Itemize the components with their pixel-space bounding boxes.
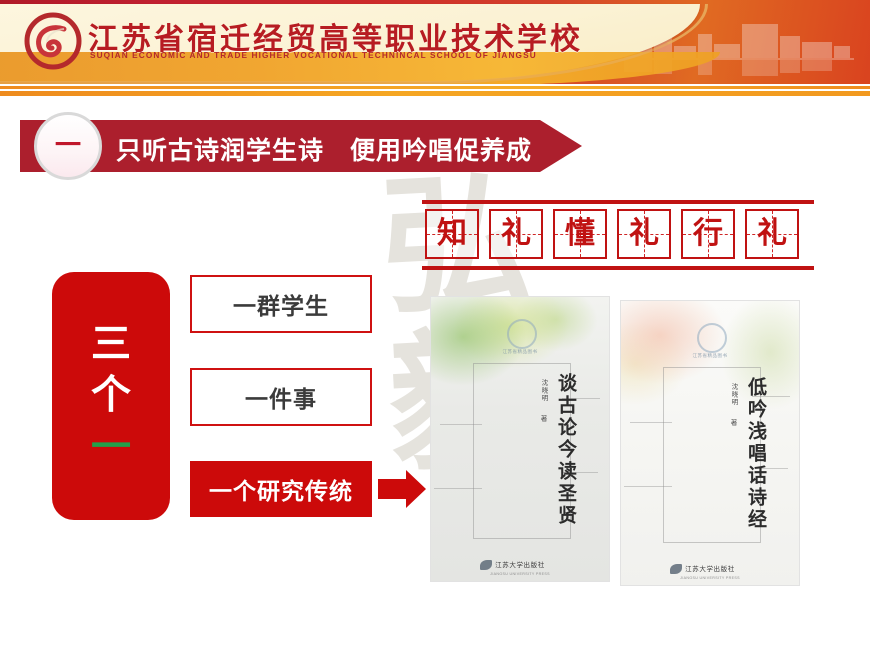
- book-spine-edge: [430, 357, 431, 582]
- banner-arrow-icon: [540, 120, 582, 172]
- grid-cell-char: 知: [437, 219, 467, 249]
- pill-char-1: 三: [91, 319, 131, 370]
- pill-char-3: 一: [91, 422, 131, 473]
- page-header: 江苏省宿迁经贸高等职业技术学校 SUQIAN ECONOMIC AND TRAD…: [0, 0, 870, 84]
- book-title: 谈古论今读圣贤: [556, 373, 575, 527]
- grid-cell-char: 礼: [501, 219, 531, 249]
- book-publisher-en: JIANGSU UNIVERSITY PRESS: [621, 576, 799, 580]
- grid-cell-char: 懂: [565, 219, 595, 249]
- grid-cell-char: 礼: [629, 219, 659, 249]
- grid-cell: 懂: [553, 209, 607, 259]
- book-publisher: 江苏大学出版社: [621, 563, 799, 573]
- three-ones-pill: 三 个 一: [52, 272, 170, 520]
- section-title-text: 只听古诗润学生诗 便用吟唱促养成: [116, 131, 532, 167]
- right-arrow-icon: [378, 470, 426, 508]
- pill-char-2: 个: [91, 370, 131, 421]
- book-author: 沈晓明: [730, 383, 737, 406]
- header-divider: [0, 86, 870, 98]
- book-cover: 江苏省精品图书 谈古论今读圣贤 沈晓明 著 江苏大学出版社 JIANGSU UN…: [430, 296, 610, 582]
- grid-rule-bottom: [422, 266, 814, 270]
- book-author-suffix: 著: [727, 419, 737, 426]
- divider-bar-top: [0, 86, 870, 89]
- section-number-label: 一: [55, 133, 81, 159]
- grid-cell: 礼: [617, 209, 671, 259]
- grid-cell: 礼: [489, 209, 543, 259]
- grid-cells: 知 礼 懂 礼 行 礼: [425, 209, 799, 259]
- book-seal-label: 江苏省精品图书: [494, 349, 546, 355]
- concept-box-tradition: 一个研究传统: [190, 461, 372, 517]
- book-publisher: 江苏大学出版社: [431, 559, 609, 569]
- concept-box-event: 一件事: [190, 368, 372, 426]
- grid-cell: 知: [425, 209, 479, 259]
- book-publisher-en: JIANGSU UNIVERSITY PRESS: [431, 572, 609, 576]
- book-seal-icon: [507, 319, 537, 349]
- book-seal-icon: [697, 323, 727, 353]
- grid-cell-char: 礼: [757, 219, 787, 249]
- concept-box-label: 一群学生: [233, 287, 329, 321]
- book-cover: 江苏省精品图书 低吟浅唱话诗经 沈晓明 著 江苏大学出版社 JIANGSU UN…: [620, 300, 800, 586]
- grid-cell: 行: [681, 209, 735, 259]
- section-number-badge: 一: [34, 112, 102, 180]
- school-emblem-icon: [24, 12, 82, 70]
- grid-character-strip: 知 礼 懂 礼 行 礼: [422, 200, 814, 270]
- concept-box-label: 一件事: [245, 380, 317, 414]
- grid-cell: 礼: [745, 209, 799, 259]
- book-author: 沈晓明: [540, 379, 547, 402]
- school-name-en: SUQIAN ECONOMIC AND TRADE HIGHER VOCATIO…: [90, 50, 537, 60]
- divider-bar-bottom: [0, 91, 870, 96]
- book-title: 低吟浅唱话诗经: [746, 377, 765, 531]
- book-author-suffix: 著: [537, 415, 547, 422]
- slide-canvas: 江苏省宿迁经贸高等职业技术学校 SUQIAN ECONOMIC AND TRAD…: [0, 0, 870, 653]
- book-seal-label: 江苏省精品图书: [684, 353, 736, 359]
- concept-box-students: 一群学生: [190, 275, 372, 333]
- concept-box-label: 一个研究传统: [209, 472, 353, 506]
- grid-rule-top: [422, 200, 814, 204]
- grid-cell-char: 行: [693, 219, 723, 249]
